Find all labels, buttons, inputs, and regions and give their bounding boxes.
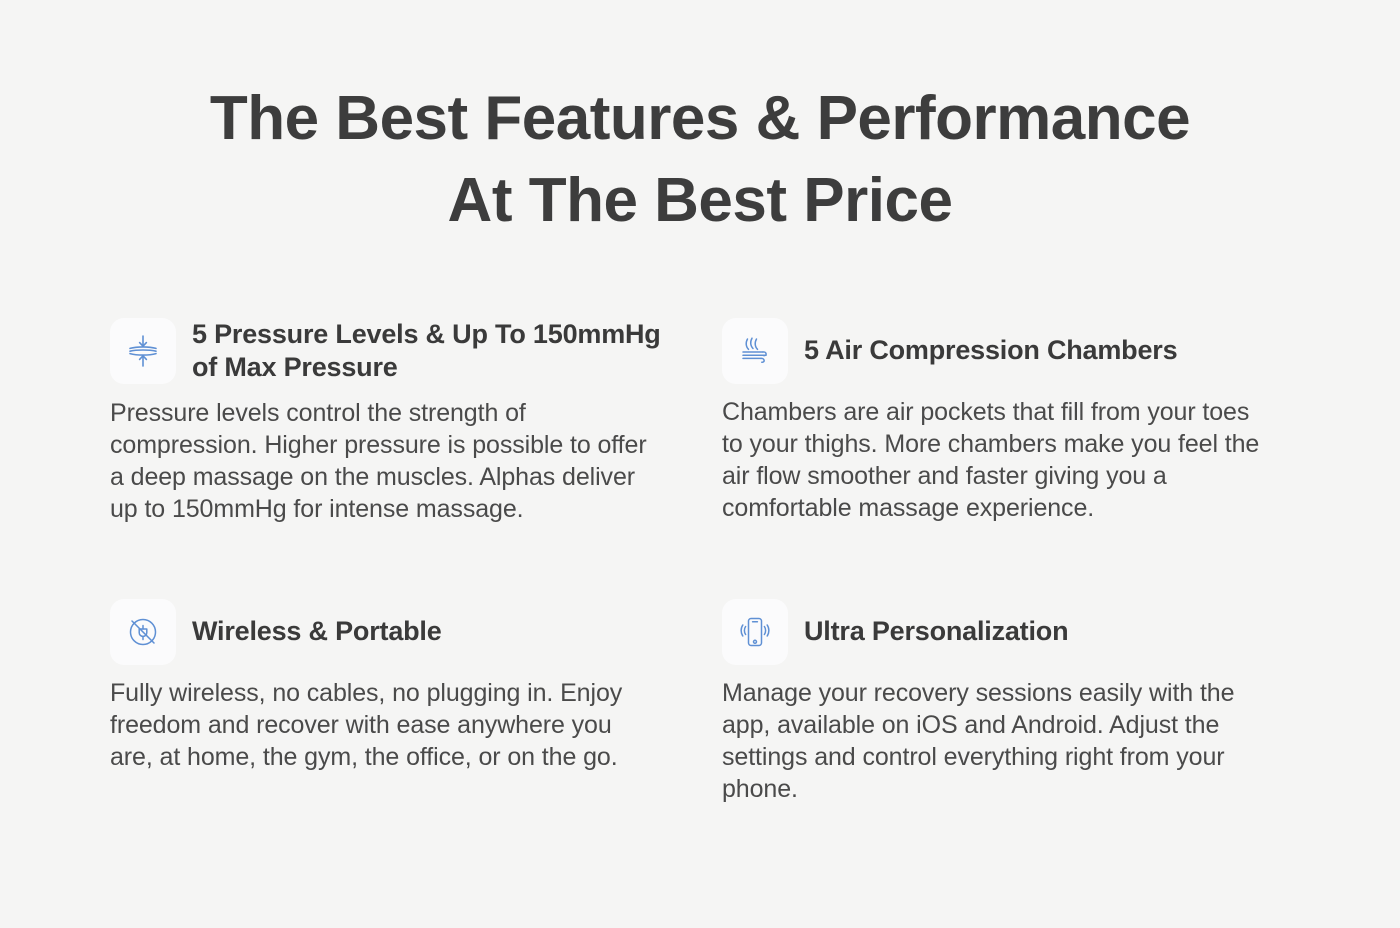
feature-card-pressure-levels: 5 Pressure Levels & Up To 150mmHg of Max… xyxy=(110,318,670,525)
feature-header: 5 Pressure Levels & Up To 150mmHg of Max… xyxy=(110,318,670,385)
feature-header: Wireless & Portable xyxy=(110,599,670,665)
feature-card-air-chambers: 5 Air Compression Chambers Chambers are … xyxy=(722,318,1282,525)
feature-card-ultra-personalization: Ultra Personalization Manage your recove… xyxy=(722,599,1282,805)
feature-card-wireless-portable: Wireless & Portable Fully wireless, no c… xyxy=(110,599,670,805)
feature-header: 5 Air Compression Chambers xyxy=(722,318,1282,384)
feature-title: Ultra Personalization xyxy=(804,615,1068,648)
feature-header: Ultra Personalization xyxy=(722,599,1282,665)
feature-description: Pressure levels control the strength of … xyxy=(110,397,655,525)
air-flow-icon xyxy=(722,318,788,384)
feature-description: Chambers are air pockets that fill from … xyxy=(722,396,1267,524)
feature-description: Fully wireless, no cables, no plugging i… xyxy=(110,677,655,773)
feature-highlights-page: The Best Features & Performance At The B… xyxy=(0,0,1400,928)
feature-title: Wireless & Portable xyxy=(192,615,442,648)
feature-title: 5 Pressure Levels & Up To 150mmHg of Max… xyxy=(192,318,670,385)
pressure-compression-icon xyxy=(110,318,176,384)
feature-grid: 5 Pressure Levels & Up To 150mmHg of Max… xyxy=(110,318,1290,805)
feature-description: Manage your recovery sessions easily wit… xyxy=(722,677,1267,805)
page-title-line-1: The Best Features & Performance xyxy=(0,78,1400,160)
page-title: The Best Features & Performance At The B… xyxy=(0,0,1400,242)
smartphone-vibration-icon xyxy=(722,599,788,665)
feature-title: 5 Air Compression Chambers xyxy=(804,334,1177,367)
no-plug-wireless-icon xyxy=(110,599,176,665)
page-title-line-2: At The Best Price xyxy=(0,160,1400,242)
